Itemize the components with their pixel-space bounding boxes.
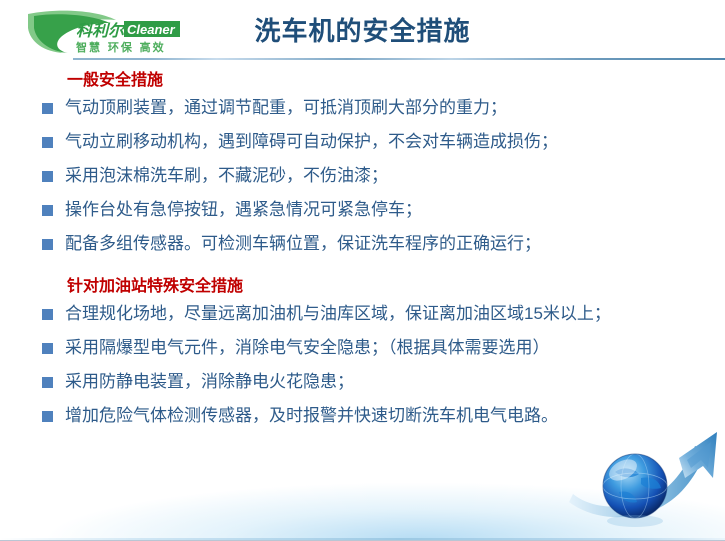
list-item: 采用防静电装置，消除静电火花隐患； bbox=[42, 365, 687, 399]
globe-with-arrow-icon bbox=[567, 416, 725, 534]
slide-canvas: 科利尔 Cleaner 智慧 环保 高效 洗车机的安全措施 一般安全措施 气动顶… bbox=[0, 0, 725, 541]
page-title: 洗车机的安全措施 bbox=[0, 16, 725, 46]
list-item: 采用隔爆型电气元件，消除电气安全隐患；（根据具体需要选用） bbox=[42, 331, 687, 365]
section-heading-general: 一般安全措施 bbox=[67, 71, 725, 91]
square-bullet-icon bbox=[42, 411, 53, 422]
square-bullet-icon bbox=[42, 309, 53, 320]
square-bullet-icon bbox=[42, 205, 53, 216]
list-item: 合理规化场地，尽量远离加油机与油库区域，保证离加油区域15米以上； bbox=[42, 297, 687, 331]
square-bullet-icon bbox=[42, 343, 53, 354]
list-item: 增加危险气体检测传感器，及时报警并快速切断洗车机电气电路。 bbox=[42, 399, 687, 433]
bottom-accent-line bbox=[0, 538, 725, 540]
list-item-text: 操作台处有急停按钮，遇紧急情况可紧急停车； bbox=[65, 193, 687, 227]
list-item-text: 气动顶刷装置，通过调节配重，可抵消顶刷大部分的重力； bbox=[65, 91, 687, 125]
list-item: 配备多组传感器。可检测车辆位置，保证洗车程序的正确运行； bbox=[42, 227, 687, 261]
list-item-text: 采用防静电装置，消除静电火花隐患； bbox=[65, 365, 687, 399]
square-bullet-icon bbox=[42, 377, 53, 388]
section-heading-gas-station: 针对加油站特殊安全措施 bbox=[67, 277, 725, 297]
header-divider bbox=[73, 58, 725, 60]
square-bullet-icon bbox=[42, 103, 53, 114]
list-item-text: 气动立刷移动机构，遇到障碍可自动保护，不会对车辆造成损伤； bbox=[65, 125, 687, 159]
list-item-text: 增加危险气体检测传感器，及时报警并快速切断洗车机电气电路。 bbox=[65, 399, 687, 433]
bottom-glow-decoration bbox=[0, 420, 725, 540]
square-bullet-icon bbox=[42, 137, 53, 148]
slide-header: 科利尔 Cleaner 智慧 环保 高效 洗车机的安全措施 bbox=[0, 0, 725, 62]
square-bullet-icon bbox=[42, 239, 53, 250]
list-item-text: 采用隔爆型电气元件，消除电气安全隐患；（根据具体需要选用） bbox=[65, 331, 687, 365]
list-item: 气动立刷移动机构，遇到障碍可自动保护，不会对车辆造成损伤； bbox=[42, 125, 687, 159]
bullet-list-general: 气动顶刷装置，通过调节配重，可抵消顶刷大部分的重力； 气动立刷移动机构，遇到障碍… bbox=[0, 91, 725, 261]
list-item: 采用泡沫棉洗车刷，不藏泥砂，不伤油漆； bbox=[42, 159, 687, 193]
list-item-text: 合理规化场地，尽量远离加油机与油库区域，保证离加油区域15米以上； bbox=[65, 297, 687, 331]
bullet-list-gas-station: 合理规化场地，尽量远离加油机与油库区域，保证离加油区域15米以上； 采用隔爆型电… bbox=[0, 297, 725, 433]
list-item-text: 配备多组传感器。可检测车辆位置，保证洗车程序的正确运行； bbox=[65, 227, 687, 261]
list-item-text: 采用泡沫棉洗车刷，不藏泥砂，不伤油漆； bbox=[65, 159, 687, 193]
slide-body: 一般安全措施 气动顶刷装置，通过调节配重，可抵消顶刷大部分的重力； 气动立刷移动… bbox=[0, 62, 725, 433]
list-item: 气动顶刷装置，通过调节配重，可抵消顶刷大部分的重力； bbox=[42, 91, 687, 125]
square-bullet-icon bbox=[42, 171, 53, 182]
list-item: 操作台处有急停按钮，遇紧急情况可紧急停车； bbox=[42, 193, 687, 227]
